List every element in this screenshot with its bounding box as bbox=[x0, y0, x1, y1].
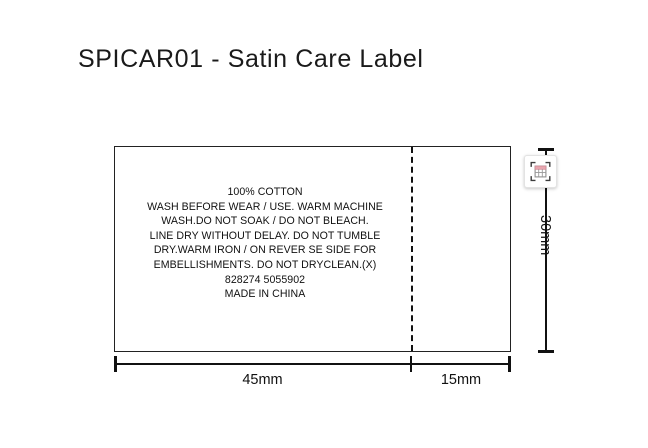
label-fold-dashed-line bbox=[411, 147, 413, 351]
care-text-line: EMBELLISHMENTS. DO NOT DRYCLEAN.(X) bbox=[133, 258, 397, 273]
width-right-dimension-label: 15mm bbox=[411, 372, 511, 388]
care-text-line: 828274 5055902 bbox=[133, 273, 397, 288]
dimension-tick-top bbox=[538, 148, 554, 151]
care-text-line: WASH.DO NOT SOAK / DO NOT BLEACH. bbox=[133, 214, 397, 229]
page-title: SPICAR01 - Satin Care Label bbox=[78, 45, 424, 74]
dimension-tick-middle bbox=[410, 356, 413, 372]
scan-table-icon bbox=[530, 161, 551, 182]
care-text-line: LINE DRY WITHOUT DELAY. DO NOT TUMBLE bbox=[133, 229, 397, 244]
care-text-line: WASH BEFORE WEAR / USE. WARM MACHINE bbox=[133, 200, 397, 215]
dimension-rule bbox=[114, 363, 511, 365]
care-instruction-text-block: 100% COTTON WASH BEFORE WEAR / USE. WARM… bbox=[133, 185, 397, 302]
height-dimension-label: 30mm bbox=[537, 215, 553, 255]
width-left-dimension-label: 45mm bbox=[114, 372, 411, 388]
dimension-tick-left bbox=[114, 356, 117, 372]
care-text-line: 100% COTTON bbox=[133, 185, 397, 200]
dimension-tick-right bbox=[508, 356, 511, 372]
scan-table-badge[interactable] bbox=[524, 155, 557, 188]
width-dimension-line bbox=[114, 363, 511, 364]
care-text-line: DRY.WARM IRON / ON REVER SE SIDE FOR bbox=[133, 243, 397, 258]
dimension-tick-bottom bbox=[538, 350, 554, 353]
care-text-line: MADE IN CHINA bbox=[133, 287, 397, 302]
